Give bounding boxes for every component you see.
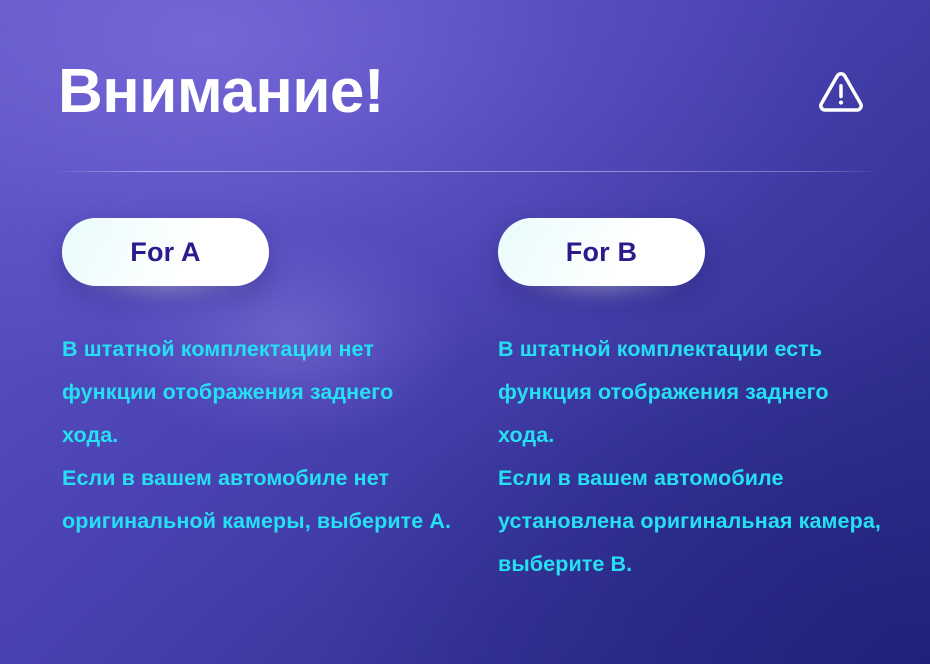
for-b-button[interactable]: For B — [498, 218, 705, 286]
option-b-paragraph-2: Если в вашем автомобиле установлена ориг… — [498, 457, 888, 586]
option-a-paragraph-1: В штатной комплектации нет функции отобр… — [62, 328, 452, 457]
warning-slide: Внимание! For A В штатной комплектации н… — [0, 0, 930, 664]
option-b-paragraph-1: В штатной комплектации есть функция отоб… — [498, 328, 888, 457]
option-a-paragraph-2: Если в вашем автомобиле нет оригинальной… — [62, 457, 452, 543]
option-b-description: В штатной комплектации есть функция отоб… — [498, 328, 888, 586]
pill-wrapper-b: For B — [498, 218, 705, 286]
option-a-description: В штатной комплектации нет функции отобр… — [62, 328, 452, 543]
for-a-button[interactable]: For A — [62, 218, 269, 286]
options-container: For A В штатной комплектации нет функции… — [58, 218, 890, 586]
option-column-b: For B В штатной комплектации есть функци… — [494, 218, 930, 586]
option-column-a: For A В штатной комплектации нет функции… — [58, 218, 494, 586]
header-divider — [58, 171, 872, 172]
slide-header: Внимание! — [58, 52, 872, 132]
page-title: Внимание! — [58, 61, 384, 123]
for-b-button-label: For B — [566, 239, 638, 266]
for-a-button-label: For A — [130, 239, 201, 266]
pill-wrapper-a: For A — [62, 218, 269, 286]
warning-triangle-icon — [814, 65, 872, 119]
